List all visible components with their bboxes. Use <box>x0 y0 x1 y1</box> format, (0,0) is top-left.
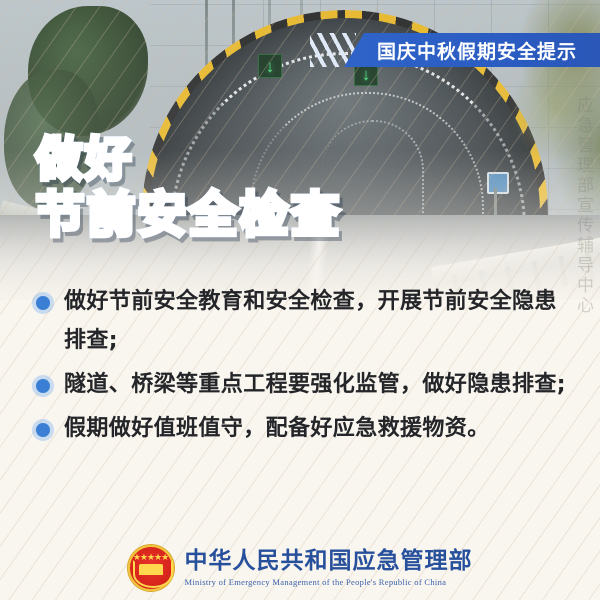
footer: ★★★★★ 中华人民共和国应急管理部 Ministry of Emergency… <box>0 540 600 596</box>
banner-bar: 国庆中秋假期安全提示 <box>344 33 600 67</box>
footer-org: 中华人民共和国应急管理部 Ministry of Emergency Manag… <box>185 548 473 589</box>
footer-org-en: Ministry of Emergency Management of the … <box>185 576 473 589</box>
page-title-line-2: 节前安全检查 <box>36 186 342 244</box>
header-banner: 国庆中秋假期安全提示 <box>310 33 600 67</box>
banner-title: 国庆中秋假期安全提示 <box>367 37 577 64</box>
china-national-emblem-icon: ★★★★★ <box>128 545 174 591</box>
list-item-text: 隧道、桥梁等重点工程要强化监管，做好隐患排查; <box>64 365 578 404</box>
list-item-text: 假期做好值班值守，配备好应急救援物资。 <box>64 409 578 448</box>
safety-tips-list: 做好节前安全教育和安全检查，开展节前安全隐患排查; 隧道、桥梁等重点工程要强化监… <box>30 282 578 453</box>
bullet-dot-icon <box>30 282 56 320</box>
page-title: 做好 节前安全检查 <box>36 132 342 244</box>
list-item: 做好节前安全教育和安全检查，开展节前安全隐患排查; <box>30 282 578 360</box>
page-title-line-1: 做好 <box>36 132 342 186</box>
footer-org-cn: 中华人民共和国应急管理部 <box>185 548 473 574</box>
bullet-dot-icon <box>30 365 56 403</box>
list-item: 隧道、桥梁等重点工程要强化监管，做好隐患排查; <box>30 365 578 404</box>
emblem-wheat <box>133 560 173 588</box>
safety-tips-poster: ↓ ↓ 应急管理部宣传辅导中心 国庆中秋假期安全提示 做好 节前安全检查 做好节… <box>0 0 600 600</box>
list-item: 假期做好值班值守，配备好应急救援物资。 <box>30 409 578 448</box>
list-item-text: 做好节前安全教育和安全检查，开展节前安全隐患排查; <box>64 282 578 360</box>
bullet-dot-icon <box>30 409 56 447</box>
